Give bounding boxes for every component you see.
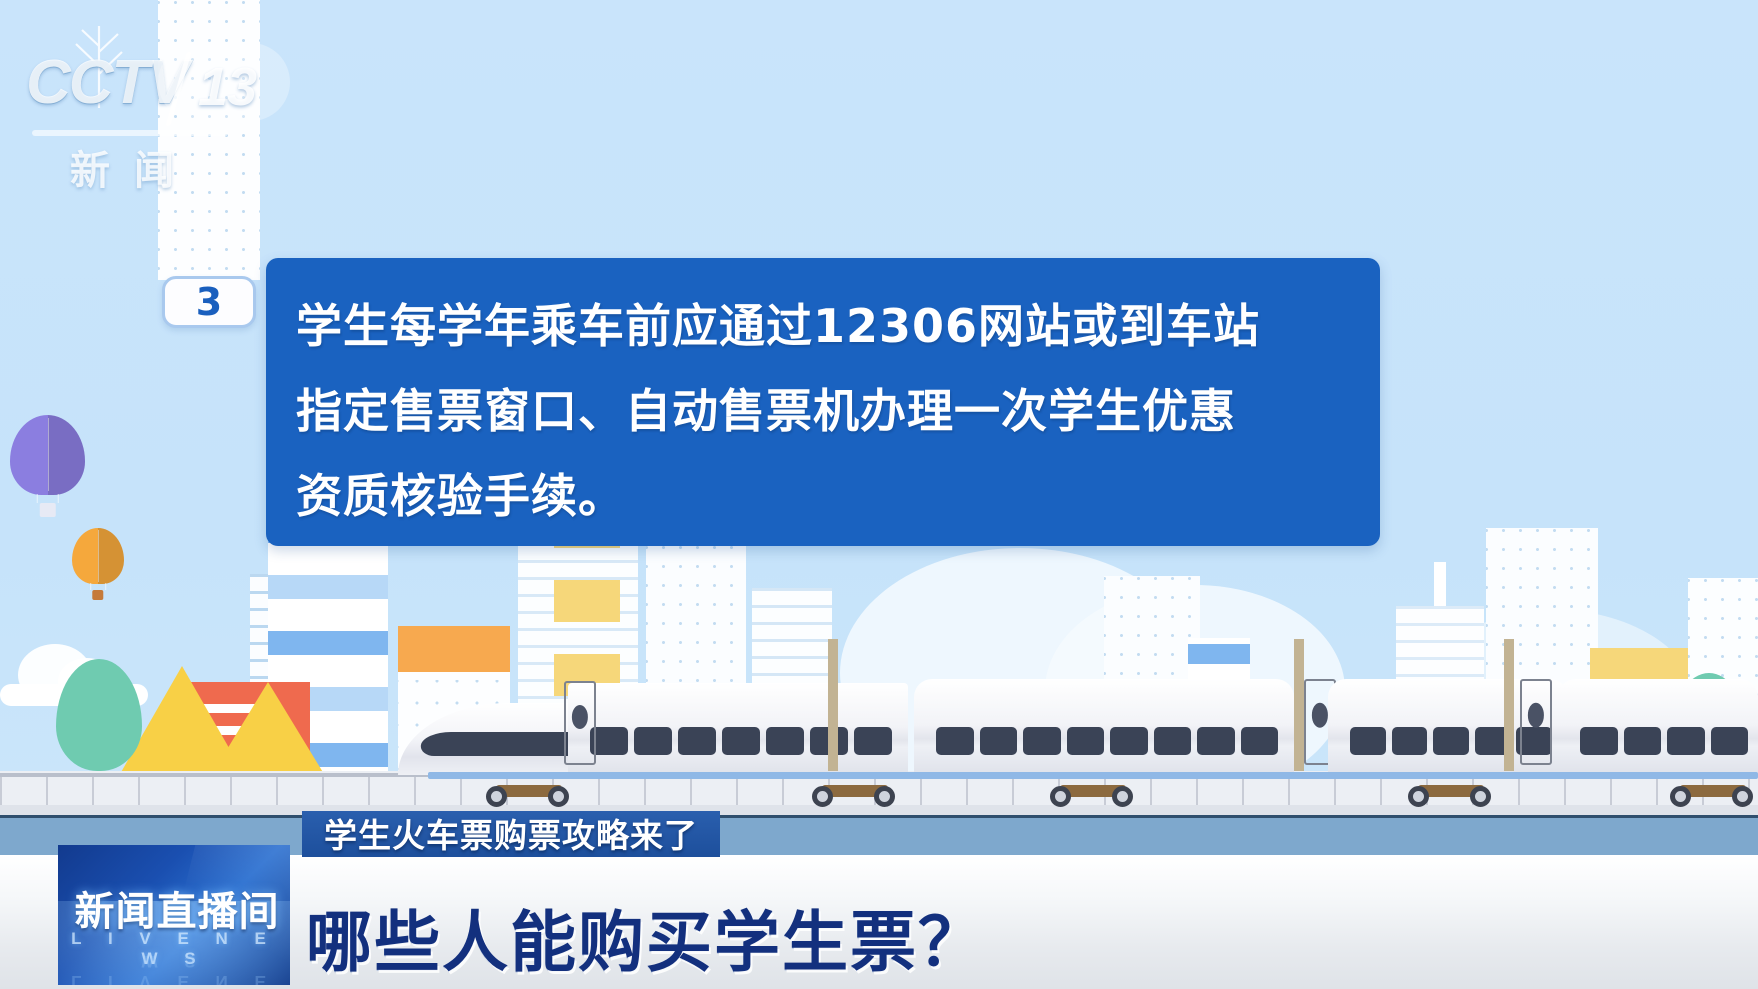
train-car-2 [914, 679, 1294, 775]
info-card: 学生每学年乘车前应通过12306网站或到车站 指定售票窗口、自动售票机办理一次学… [266, 258, 1380, 546]
kicker-banner: 学生火车票购票攻略来了 [302, 811, 720, 857]
train-wheel-3b [1112, 786, 1133, 807]
headline-text: 哪些人能购买学生票？ [306, 905, 986, 981]
train-car-4 [1558, 679, 1758, 775]
hot-air-balloon-orange-icon [72, 528, 124, 600]
info-card-line-2: 指定售票窗口、自动售票机办理一次学生优惠 [296, 369, 1346, 454]
train-wheel-3a [1050, 786, 1071, 807]
info-card-line-1: 学生每学年乘车前应通过12306网站或到车站 [296, 284, 1346, 369]
step-number-badge: 3 [162, 276, 256, 328]
train-wheel-2b [874, 786, 895, 807]
catenary-mast-1 [1294, 639, 1304, 771]
train-wheel-5a [1670, 786, 1691, 807]
railway-ballast [0, 805, 1758, 815]
kicker-text: 学生火车票购票攻略来了 [324, 809, 698, 857]
program-logo: 新闻直播间 L I V E N E W S L I V E N E W S [58, 845, 290, 985]
hot-air-balloon-purple-icon [10, 415, 85, 517]
train-car-1 [568, 683, 908, 775]
program-name-en-reflection: L I V E N E W S [58, 951, 290, 985]
high-speed-train [398, 663, 1758, 775]
logo-subtitle: 新闻 [70, 138, 198, 196]
catenary-mast-3 [828, 639, 838, 771]
train-wheel-1b [548, 786, 569, 807]
hill-yellow-right [212, 682, 324, 774]
train-door-1 [564, 681, 596, 765]
train-wheel-1a [486, 786, 507, 807]
train-skirt [428, 772, 1758, 779]
logo-channel-number: 13 [198, 56, 256, 118]
train-wheel-4a [1408, 786, 1429, 807]
train-wheel-4b [1470, 786, 1491, 807]
logo-underline [32, 130, 228, 136]
train-wheel-2a [812, 786, 833, 807]
train-wheel-5b [1732, 786, 1753, 807]
train-door-3 [1520, 679, 1552, 765]
cctv13-logo-icon: CCTV 13 新闻 [26, 52, 306, 192]
info-card-line-3: 资质核验手续。 [296, 454, 1346, 539]
catenary-mast-2 [1504, 639, 1514, 771]
step-number-value: 3 [196, 283, 222, 321]
broadcast-frame: CCTV 13 新闻 3 学生每学年乘车前应通过12306网站或到车站 指定售票… [0, 0, 1758, 989]
